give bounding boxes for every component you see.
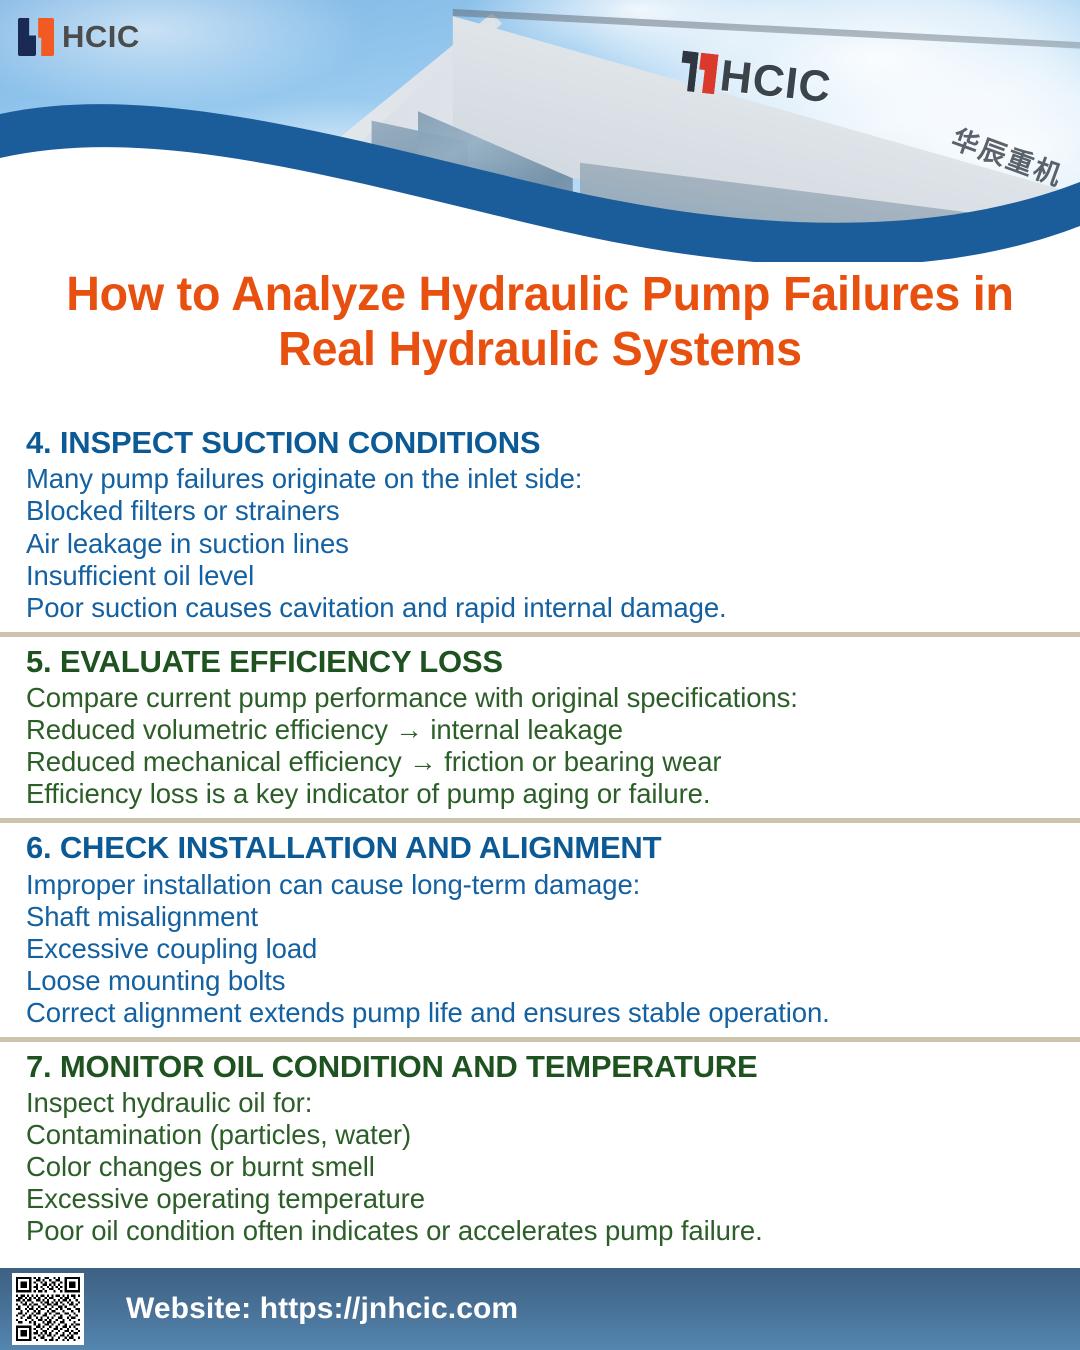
section-line: Loose mounting bolts <box>26 965 1054 997</box>
section-line: Poor suction causes cavitation and rapid… <box>26 592 1054 624</box>
page-title: How to Analyze Hydraulic Pump Failures i… <box>16 268 1064 377</box>
section-line: Improper installation can cause long-ter… <box>26 869 1054 901</box>
hcic-logo-text: HCIC <box>62 19 140 55</box>
qr-code-icon[interactable] <box>12 1273 84 1345</box>
section-line: Excessive coupling load <box>26 933 1054 965</box>
hcic-logo: HCIC <box>18 18 140 56</box>
section-line: Poor oil condition often indicates or ac… <box>26 1215 1054 1247</box>
section-line: Many pump failures originate on the inle… <box>26 463 1054 495</box>
section-heading: 4. INSPECT SUCTION CONDITIONS <box>26 424 1054 462</box>
section-line: Inspect hydraulic oil for: <box>26 1087 1054 1119</box>
blue-wave-divider <box>0 102 1080 262</box>
section-line: Correct alignment extends pump life and … <box>26 997 1054 1029</box>
building-logo-icon <box>678 51 718 95</box>
section-line: Efficiency loss is a key indicator of pu… <box>26 778 1054 810</box>
section-line: Air leakage in suction lines <box>26 528 1054 560</box>
section-line: Reduced volumetric efficiency → internal… <box>26 714 1054 746</box>
section-heading: 6. CHECK INSTALLATION AND ALIGNMENT <box>26 829 1054 867</box>
section-evaluate-efficiency-loss: 5. EVALUATE EFFICIENCY LOSS Compare curr… <box>0 637 1080 819</box>
section-line: Color changes or burnt smell <box>26 1151 1054 1183</box>
section-line: Shaft misalignment <box>26 901 1054 933</box>
section-line: Compare current pump performance with or… <box>26 682 1054 714</box>
section-line: Insufficient oil level <box>26 560 1054 592</box>
qr-code-svg <box>16 1277 80 1341</box>
footer-bar: Website: https://jnhcic.com <box>0 1268 1080 1350</box>
header-banner: HCIC 华辰重机 HCIC <box>0 0 1080 262</box>
section-line: Contamination (particles, water) <box>26 1119 1054 1151</box>
website-label[interactable]: Website: https://jnhcic.com <box>126 1292 518 1326</box>
section-heading: 5. EVALUATE EFFICIENCY LOSS <box>26 643 1054 681</box>
section-line: Reduced mechanical efficiency → friction… <box>26 746 1054 778</box>
section-monitor-oil-condition-and-temperature: 7. MONITOR OIL CONDITION AND TEMPERATURE… <box>0 1042 1080 1256</box>
hcic-logo-icon <box>18 18 54 56</box>
section-inspect-suction-conditions: 4. INSPECT SUCTION CONDITIONS Many pump … <box>0 418 1080 632</box>
sections-container: 4. INSPECT SUCTION CONDITIONS Many pump … <box>0 418 1080 1255</box>
section-line: Blocked filters or strainers <box>26 495 1054 527</box>
section-line: Excessive operating temperature <box>26 1183 1054 1215</box>
section-check-installation-and-alignment: 6. CHECK INSTALLATION AND ALIGNMENT Impr… <box>0 823 1080 1037</box>
section-heading: 7. MONITOR OIL CONDITION AND TEMPERATURE <box>26 1048 1054 1086</box>
